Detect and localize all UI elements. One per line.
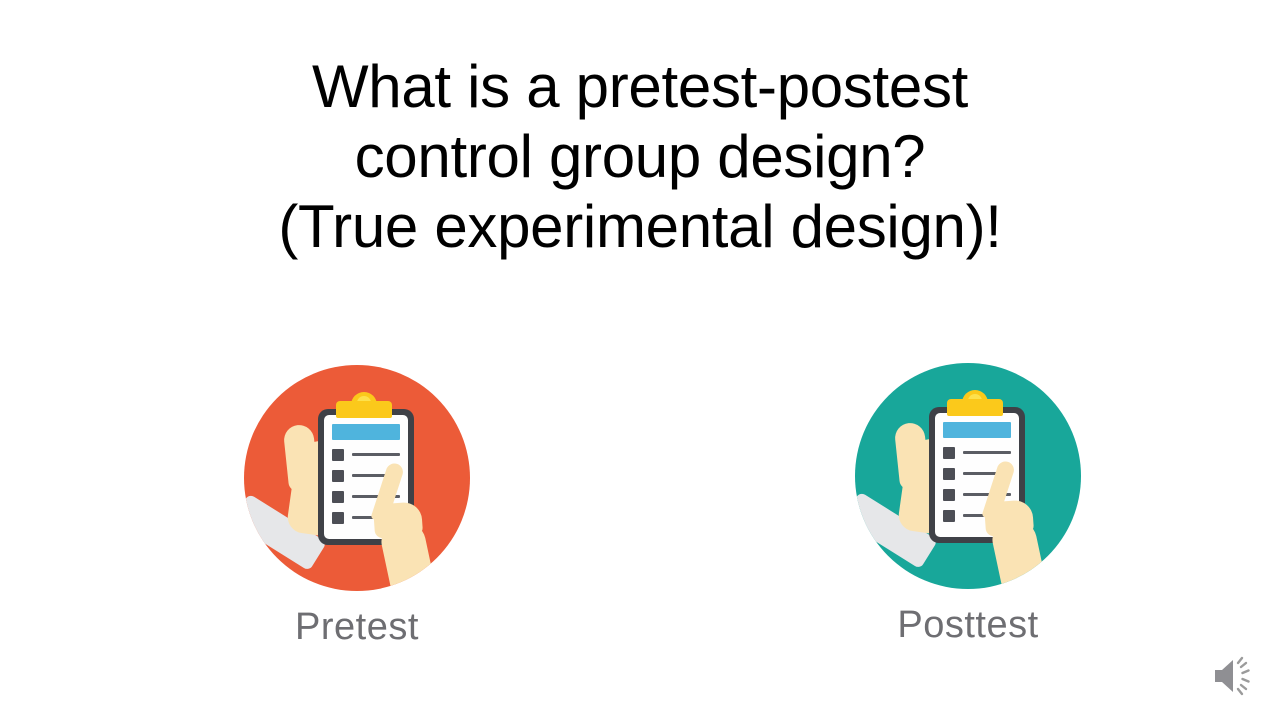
pretest-circle-badge [244,365,470,591]
title-line-1: What is a pretest-postest [0,52,1280,122]
checklist-line [352,453,400,456]
clipboard-checklist-hand-icon [244,365,470,591]
checkbox-icon [943,510,955,522]
slide-canvas: What is a pretest-postest control group … [0,0,1280,720]
checkbox-icon [332,449,344,461]
paper-header-bar [332,424,400,440]
clipboard-clip [336,401,392,418]
paper-header-bar [943,422,1011,438]
checkbox-icon [332,512,344,524]
checkbox-icon [943,447,955,459]
clipboard-clip [947,399,1003,416]
checklist-row [943,446,1011,459]
title-line-2: control group design? [0,122,1280,192]
posttest-label: Posttest [818,603,1118,647]
figure-pretest: Pretest [207,365,507,649]
checkbox-icon [943,489,955,501]
posttest-circle-badge [855,363,1081,589]
checkbox-icon [332,470,344,482]
checkbox-icon [943,468,955,480]
page-title: What is a pretest-postest control group … [0,52,1280,262]
checklist-line [963,451,1011,454]
speaker-volume-icon[interactable] [1211,654,1259,698]
title-line-3: (True experimental design)! [0,192,1280,262]
checklist-row [332,448,400,461]
pretest-label: Pretest [207,605,507,649]
checkbox-icon [332,491,344,503]
figure-posttest: Posttest [818,363,1118,647]
clipboard-checklist-hand-icon [855,363,1081,589]
